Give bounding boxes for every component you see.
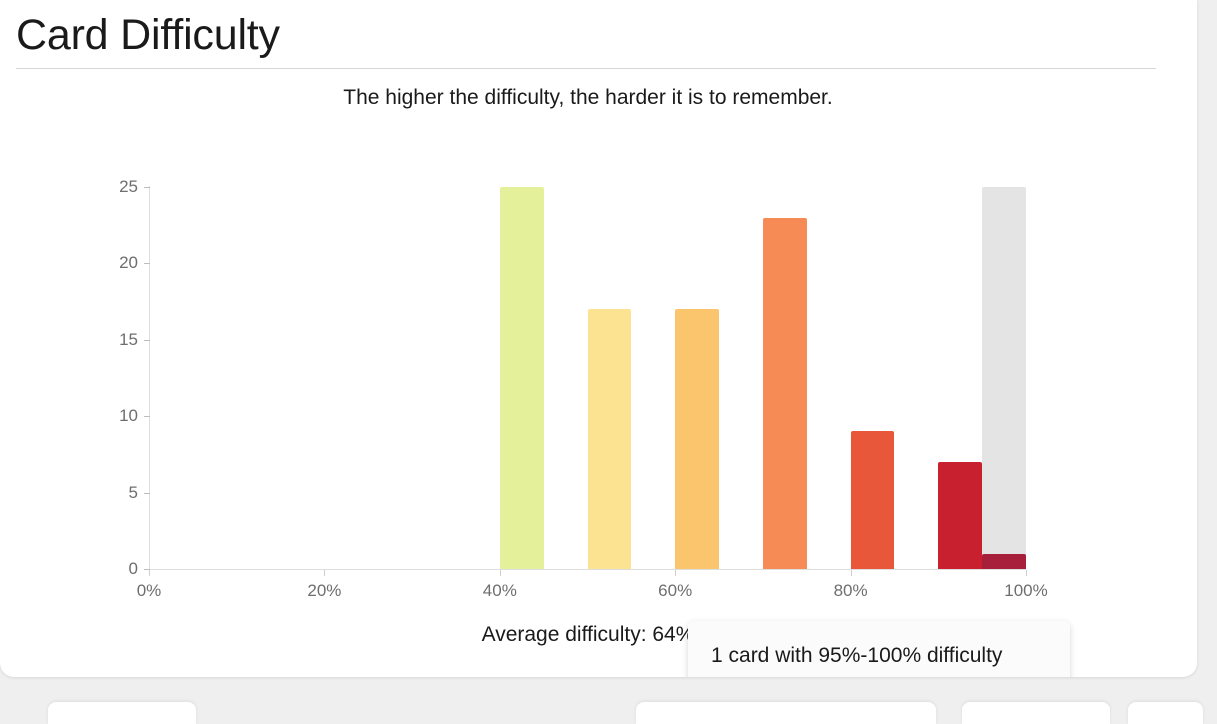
x-axis-tick-label: 60% xyxy=(630,581,720,601)
y-axis-line xyxy=(149,186,150,570)
y-axis-tick-label: 15 xyxy=(98,330,138,350)
histogram-bar[interactable] xyxy=(938,462,982,569)
y-axis-tick-mark xyxy=(144,263,150,264)
x-axis-tick-label: 0% xyxy=(104,581,194,601)
x-axis-tick-label: 20% xyxy=(279,581,369,601)
y-axis-tick-label: 20 xyxy=(98,253,138,273)
x-axis-tick-label: 100% xyxy=(981,581,1071,601)
histogram-bar[interactable] xyxy=(588,309,632,569)
x-axis-tick-mark xyxy=(149,570,150,576)
histogram-bar[interactable] xyxy=(982,554,1026,569)
x-axis-tick-label: 40% xyxy=(455,581,545,601)
x-axis-tick-mark xyxy=(324,570,325,576)
x-axis-tick-mark xyxy=(675,570,676,576)
chart-tooltip-text: 1 card with 95%-100% difficulty xyxy=(711,644,1002,668)
y-axis-tick-mark xyxy=(144,493,150,494)
bottom-card-right[interactable] xyxy=(962,702,1110,724)
y-axis-tick-label: 25 xyxy=(98,177,138,197)
x-axis-line xyxy=(149,569,1026,570)
x-axis-tick-mark xyxy=(851,570,852,576)
y-axis-tick-mark xyxy=(144,416,150,417)
bottom-card-center[interactable] xyxy=(636,702,936,724)
bar-hover-highlight xyxy=(982,187,1026,569)
x-axis-tick-mark xyxy=(1026,570,1027,576)
x-axis-tick-mark xyxy=(500,570,501,576)
y-axis-tick-mark xyxy=(144,187,150,188)
difficulty-histogram[interactable]: 05101520250%20%40%60%80%100% xyxy=(0,0,1197,677)
histogram-bar[interactable] xyxy=(851,431,895,569)
y-axis-tick-label: 0 xyxy=(98,559,138,579)
x-axis-tick-label: 80% xyxy=(806,581,896,601)
card-difficulty-stats-card: Card Difficulty The higher the difficult… xyxy=(0,0,1197,677)
y-axis-tick-label: 5 xyxy=(98,483,138,503)
histogram-bar[interactable] xyxy=(500,187,544,569)
y-axis-tick-label: 10 xyxy=(98,406,138,426)
bottom-card-far-right[interactable] xyxy=(1128,702,1203,724)
chart-tooltip: 1 card with 95%-100% difficulty xyxy=(688,621,1070,677)
histogram-bar[interactable] xyxy=(675,309,719,569)
bottom-card-left[interactable] xyxy=(48,702,196,724)
y-axis-tick-mark xyxy=(144,340,150,341)
histogram-bar[interactable] xyxy=(763,218,807,569)
